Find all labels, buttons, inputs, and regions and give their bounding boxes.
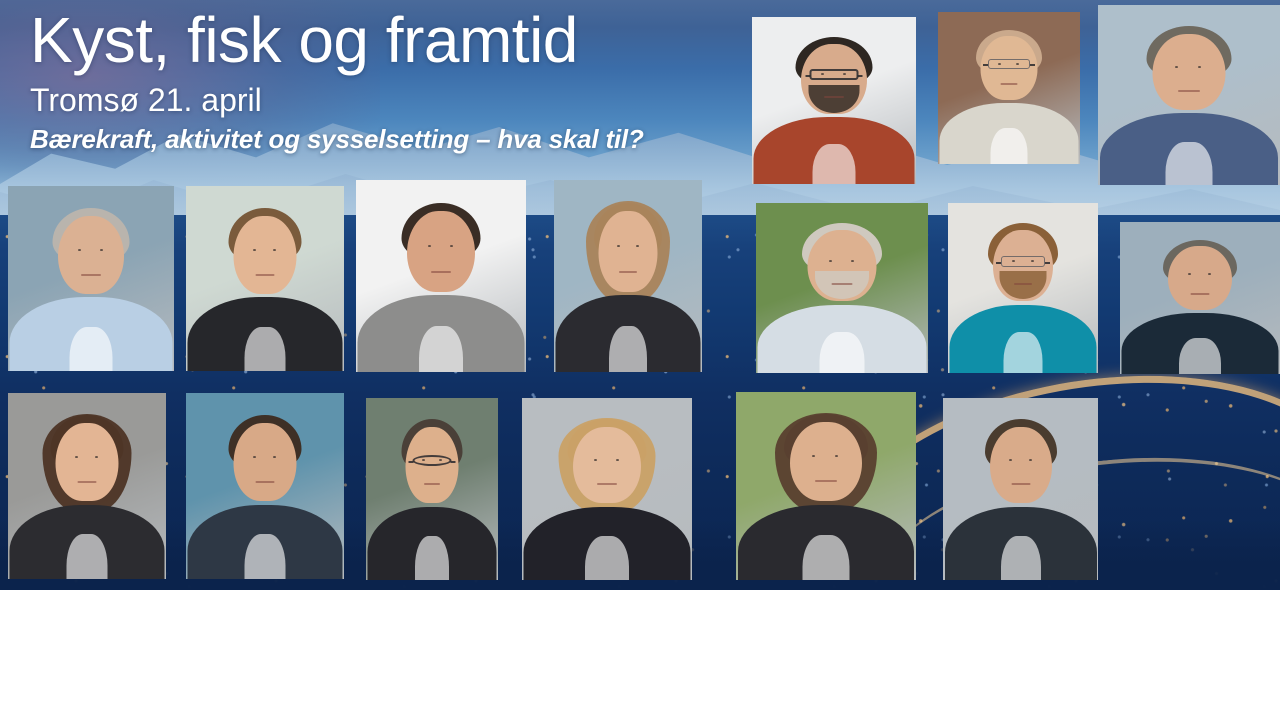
portrait-face [234, 216, 297, 294]
portrait-eye-left [78, 249, 81, 251]
slide-title: Kyst, fisk og framtid [30, 8, 730, 72]
sponsor-logo-bar: SjømatNorge [0, 590, 1280, 720]
portrait-inner-shirt [991, 128, 1028, 164]
portrait-eye-right [1208, 273, 1211, 275]
portrait-eye-left [617, 245, 620, 247]
portrait-inner-shirt [1001, 536, 1041, 580]
portrait-face [407, 211, 475, 292]
portrait-glasses-icon [988, 59, 1030, 69]
speaker-portrait [1120, 222, 1280, 374]
portrait-eye-right [273, 456, 276, 458]
portrait-eye-left [812, 455, 815, 457]
portrait-inner-shirt [585, 536, 629, 580]
speaker-portrait [948, 203, 1098, 373]
speaker-portrait [522, 398, 692, 580]
speaker-portrait [752, 17, 916, 184]
portrait-inner-shirt [419, 326, 463, 372]
portrait-eye-right [636, 245, 639, 247]
speaker-portrait [1098, 5, 1280, 185]
portrait-face [58, 216, 124, 294]
portrait-mouth [1191, 293, 1210, 295]
portrait-eye-right [835, 455, 838, 457]
portrait-mouth [832, 283, 853, 285]
portrait-mouth [619, 271, 637, 273]
portrait-inner-shirt [415, 536, 449, 580]
portrait-inner-shirt [1004, 332, 1043, 373]
portrait-eye-right [1198, 66, 1201, 68]
portrait-mouth [824, 96, 844, 98]
portrait-mouth [256, 274, 275, 276]
portrait-inner-shirt [813, 144, 856, 184]
portrait-face [56, 423, 119, 501]
portrait-face [599, 211, 658, 292]
portrait-eye-right [1029, 459, 1032, 461]
portrait-inner-shirt [70, 327, 113, 371]
portrait-inner-shirt [1179, 338, 1221, 374]
portrait-eye-left [829, 260, 832, 262]
portrait-inner-shirt [820, 332, 865, 373]
slide-tagline: Bærekraft, aktivitet og sysselsetting – … [30, 125, 730, 154]
portrait-face [234, 423, 297, 501]
portrait-face [1153, 34, 1226, 110]
portrait-eye-right [616, 459, 619, 461]
portrait-mouth [1178, 90, 1200, 92]
portrait-mouth [1011, 483, 1030, 485]
portrait-eye-right [450, 245, 453, 247]
portrait-eye-left [1009, 459, 1012, 461]
portrait-glasses-icon [1001, 256, 1045, 267]
portrait-face [990, 427, 1052, 503]
speaker-portrait [943, 398, 1098, 580]
speaker-portrait [8, 186, 174, 371]
portrait-inner-shirt [1166, 142, 1213, 185]
speaker-portrait [736, 392, 916, 580]
portrait-mouth [597, 483, 617, 485]
speaker-portrait [186, 393, 344, 579]
portrait-eye-left [428, 245, 431, 247]
portrait-eye-left [253, 249, 256, 251]
portrait-mouth [1001, 83, 1018, 85]
speaker-portrait [186, 186, 344, 371]
speaker-portrait [8, 393, 166, 579]
portrait-face [790, 422, 862, 501]
portrait-mouth [431, 271, 451, 273]
portrait-eye-right [95, 456, 98, 458]
portrait-eye-right [100, 249, 103, 251]
speaker-portrait [356, 180, 526, 372]
portrait-eye-right [273, 249, 276, 251]
portrait-glasses-icon [413, 455, 452, 466]
portrait-mouth [256, 481, 275, 483]
slide-subtitle: Tromsø 21. april [30, 84, 730, 118]
portrait-inner-shirt [245, 327, 286, 371]
portrait-inner-shirt [803, 535, 850, 580]
title-block: Kyst, fisk og framtid Tromsø 21. april B… [30, 8, 730, 153]
portrait-mouth [815, 480, 837, 482]
speaker-portrait [366, 398, 498, 580]
presentation-slide: Kyst, fisk og framtid Tromsø 21. april B… [0, 0, 1280, 720]
portrait-inner-shirt [67, 534, 108, 579]
portrait-eye-left [1175, 66, 1178, 68]
portrait-mouth [78, 481, 97, 483]
portrait-inner-shirt [245, 534, 286, 579]
portrait-mouth [1014, 283, 1032, 285]
portrait-face [1168, 246, 1232, 310]
speaker-portrait [938, 12, 1080, 164]
portrait-eye-left [594, 459, 597, 461]
portrait-mouth [424, 483, 440, 485]
portrait-mouth [81, 274, 101, 276]
portrait-eye-right [851, 260, 854, 262]
portrait-eye-left [1188, 273, 1191, 275]
portrait-glasses-icon [810, 69, 859, 80]
portrait-face [573, 427, 641, 503]
speaker-portrait [554, 180, 702, 372]
speaker-portrait [756, 203, 928, 373]
portrait-inner-shirt [609, 326, 647, 372]
portrait-eye-left [75, 456, 78, 458]
portrait-eye-left [253, 456, 256, 458]
